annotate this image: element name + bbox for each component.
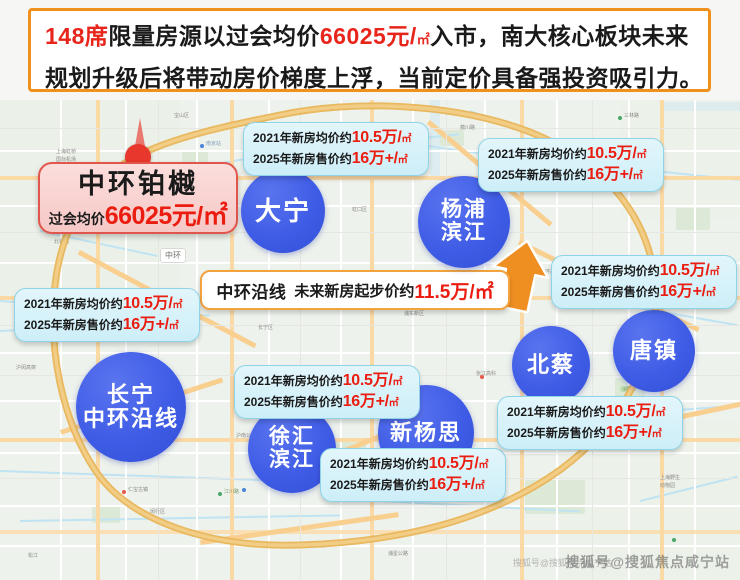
price-callout-yangpu-binjiang: 2021年新房均价约10.5万/㎡ 2025年新房售价约16万+/㎡: [478, 138, 664, 192]
price-value-2021: 10.5万/: [429, 455, 479, 472]
ring-corridor-banner: 中环沿线 未来新房起步价约 11.5万/ ㎡: [200, 270, 510, 310]
ring-corridor-title: 中环沿线: [216, 278, 286, 303]
price-unit-2025: ㎡: [652, 429, 662, 440]
price-label-2025: 2025年新房售价约: [561, 285, 660, 299]
price-label-2025: 2025年新房售价约: [488, 168, 587, 182]
price-callout-xinyangsi: 2021年新房均价约10.5万/㎡ 2025年新房售价约16万+/㎡: [320, 448, 506, 502]
price-row-2025: 2025年新房售价约16万+/㎡: [488, 165, 654, 186]
ring-corridor-unit: ㎡: [475, 277, 494, 304]
project-price: 过会均价66025元/㎡: [40, 202, 236, 234]
price-callout-tangzhen: 2021年新房均价约10.5万/㎡ 2025年新房售价约16万+/㎡: [551, 255, 737, 309]
price-callout-beicai: 2021年新房均价约10.5万/㎡ 2025年新房售价约16万+/㎡: [497, 396, 683, 450]
price-label-2021: 2021年新房均价约: [24, 297, 123, 311]
price-label-2021: 2021年新房均价约: [253, 131, 352, 145]
price-unit-2021: ㎡: [393, 377, 403, 388]
ring-corridor-text: 未来新房起步价约: [294, 280, 414, 301]
price-value-2025: 16万+/: [587, 166, 633, 183]
district-label-daning: 大宁: [255, 197, 311, 225]
price-row-2025: 2025年新房售价约16万+/㎡: [244, 392, 410, 413]
price-unit-2025: ㎡: [633, 171, 643, 182]
price-row-2021: 2021年新房均价约10.5万/㎡: [488, 144, 654, 165]
watermark-primary: 搜狐号@搜狐焦点咸宁站: [565, 552, 730, 572]
price-label-2025: 2025年新房售价约: [24, 318, 123, 332]
price-value-2025: 16万+/: [660, 283, 706, 300]
price-label-2025: 2025年新房售价约: [253, 152, 352, 166]
price-label-2021: 2021年新房均价约: [488, 147, 587, 161]
district-circle-tangzhen[interactable]: 唐镇: [613, 310, 695, 392]
price-row-2021: 2021年新房均价约10.5万/㎡: [24, 294, 190, 315]
price-row-2021: 2021年新房均价约10.5万/㎡: [253, 128, 419, 149]
price-row-2021: 2021年新房均价约10.5万/㎡: [244, 371, 410, 392]
headline-line-2: 规划升级后将带动房价梯度上浮，当前定价具备强投资吸引力。: [45, 59, 694, 97]
district-label-changning-2: 中环沿线: [83, 407, 179, 431]
district-label-xinyangsi: 新杨思: [390, 421, 462, 445]
headline-price: 66025元/: [320, 23, 417, 49]
price-label-2021: 2021年新房均价约: [561, 264, 660, 278]
headline-price-unit: ㎡: [417, 32, 431, 47]
price-unit-2025: ㎡: [706, 288, 716, 299]
ring-corridor-value: 11.5万/: [414, 277, 474, 304]
price-label-2025: 2025年新房售价约: [244, 395, 343, 409]
price-unit-2025: ㎡: [169, 321, 179, 332]
headline-text-a: 限量房源以过会均价: [108, 23, 320, 49]
district-label-tangzhen: 唐镇: [630, 339, 678, 363]
price-unit-2021: ㎡: [637, 150, 647, 161]
headline-line-1: 148席限量房源以过会均价66025元/㎡入市，南大核心板块未来: [45, 17, 694, 59]
price-unit-2021: ㎡: [173, 300, 183, 311]
price-callout-xuhui-binjiang: 2021年新房均价约10.5万/㎡ 2025年新房售价约16万+/㎡: [234, 365, 420, 419]
price-unit-2025: ㎡: [475, 481, 485, 492]
project-price-unit: ㎡: [203, 202, 228, 230]
headline-banner: 148席限量房源以过会均价66025元/㎡入市，南大核心板块未来 规划升级后将带…: [28, 8, 711, 92]
district-label-yangpu-1: 杨浦: [441, 199, 487, 222]
district-label-changning-1: 长宁: [107, 383, 155, 407]
price-row-2021: 2021年新房均价约10.5万/㎡: [507, 402, 673, 423]
price-unit-2021: ㎡: [479, 460, 489, 471]
district-label-xuhui-2: 滨江: [269, 449, 315, 472]
price-unit-2021: ㎡: [656, 408, 666, 419]
price-label-2025: 2025年新房售价约: [330, 478, 429, 492]
price-value-2025: 16万+/: [429, 476, 475, 493]
price-row-2025: 2025年新房售价约16万+/㎡: [561, 282, 727, 303]
price-value-2025: 16万+/: [343, 393, 389, 410]
price-value-2021: 10.5万/: [123, 295, 173, 312]
project-name: 中环铂樾: [40, 166, 236, 202]
map-road-label-ring: 中环: [160, 248, 186, 263]
district-label-yangpu-2: 滨江: [441, 222, 487, 245]
district-circle-daning[interactable]: 大宁: [241, 169, 325, 253]
price-unit-2021: ㎡: [710, 267, 720, 278]
price-label-2021: 2021年新房均价约: [244, 374, 343, 388]
district-label-xuhui-1: 徐汇: [269, 426, 315, 449]
price-row-2025: 2025年新房售价约16万+/㎡: [330, 475, 496, 496]
price-value-2021: 10.5万/: [343, 372, 393, 389]
price-row-2025: 2025年新房售价约16万+/㎡: [24, 315, 190, 336]
infographic-poster: 仁宝古镇 江川路 南京站 上海虹桥 国际机场 三林路 虹口区 长宁区 浦东新区 …: [0, 0, 740, 580]
headline-text-b: 入市，南大核心板块未来: [430, 23, 689, 49]
price-value-2021: 10.5万/: [587, 145, 637, 162]
project-price-value: 66025元/: [105, 202, 203, 230]
price-unit-2021: ㎡: [402, 134, 412, 145]
district-circle-changning-ring[interactable]: 长宁 中环沿线: [76, 352, 186, 462]
price-value-2025: 16万+/: [606, 424, 652, 441]
district-label-beicai: 北蔡: [527, 353, 575, 377]
price-row-2025: 2025年新房售价约16万+/㎡: [253, 149, 419, 170]
price-value-2021: 10.5万/: [606, 403, 656, 420]
price-value-2021: 10.5万/: [660, 262, 710, 279]
price-unit-2025: ㎡: [398, 155, 408, 166]
price-unit-2025: ㎡: [389, 398, 399, 409]
price-row-2025: 2025年新房售价约16万+/㎡: [507, 423, 673, 444]
price-callout-changning: 2021年新房均价约10.5万/㎡ 2025年新房售价约16万+/㎡: [14, 288, 200, 342]
price-row-2021: 2021年新房均价约10.5万/㎡: [330, 454, 496, 475]
price-row-2021: 2021年新房均价约10.5万/㎡: [561, 261, 727, 282]
headline-units: 148席: [45, 23, 108, 49]
price-label-2021: 2021年新房均价约: [330, 457, 429, 471]
project-label-card: 中环铂樾 过会均价66025元/㎡: [38, 162, 238, 234]
price-label-2025: 2025年新房售价约: [507, 426, 606, 440]
district-circle-beicai[interactable]: 北蔡: [512, 326, 590, 404]
price-label-2021: 2021年新房均价约: [507, 405, 606, 419]
price-callout-daning: 2021年新房均价约10.5万/㎡ 2025年新房售价约16万+/㎡: [243, 122, 429, 176]
price-value-2025: 16万+/: [352, 150, 398, 167]
price-value-2021: 10.5万/: [352, 129, 402, 146]
project-price-label: 过会均价: [49, 211, 105, 227]
price-value-2025: 16万+/: [123, 316, 169, 333]
